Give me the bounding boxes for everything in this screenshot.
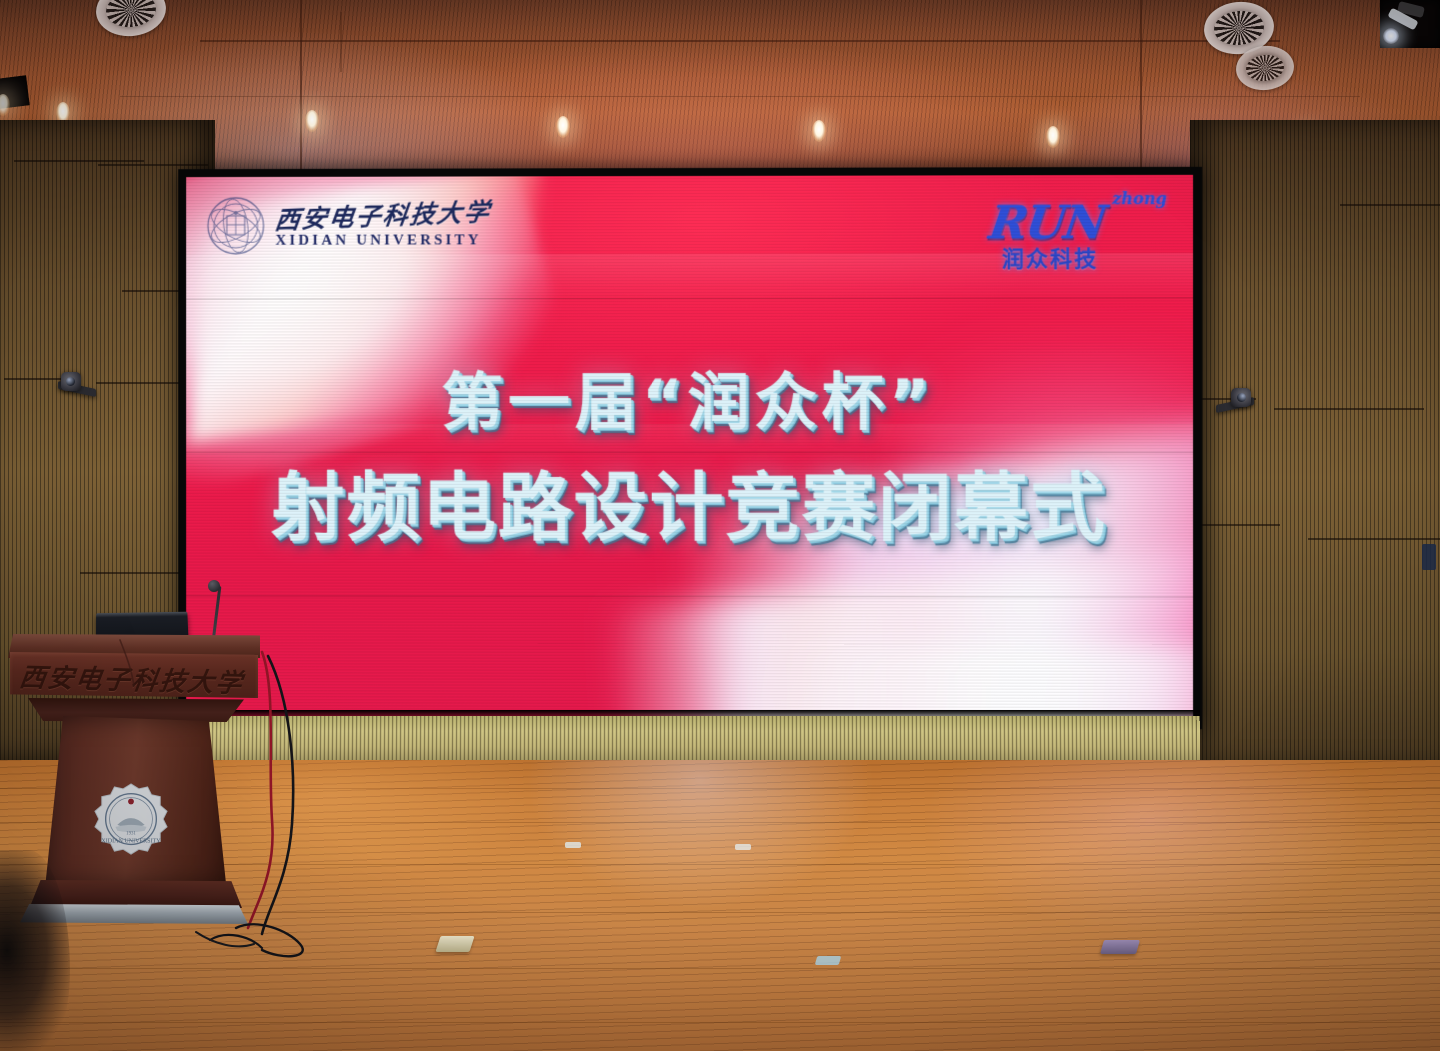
xidian-university-emblem-icon: XIDIAN UNIVERSITY 1931 bbox=[92, 782, 170, 860]
event-title-line1: 第一届“润众杯” bbox=[186, 352, 1193, 442]
ceiling-light-slot bbox=[1380, 0, 1440, 48]
floor-outlet-plate bbox=[1100, 940, 1140, 954]
event-title-line2: 射频电路设计竞赛闭幕式 bbox=[186, 448, 1193, 555]
microphone-capsule bbox=[208, 580, 220, 592]
camera-lens bbox=[1237, 393, 1246, 402]
svg-text:1931: 1931 bbox=[126, 832, 136, 837]
lectern-engraved-text: 西安电子科技大学 bbox=[18, 657, 237, 697]
wall-camera-icon bbox=[1214, 388, 1260, 414]
led-display-frame: 西安电子科技大学 XIDIAN UNIVERSITY zhong RUN 润众科… bbox=[178, 167, 1202, 729]
wall-camera-icon bbox=[52, 372, 98, 398]
floor-marker bbox=[815, 956, 842, 965]
wall-seam bbox=[14, 160, 144, 162]
downlight-icon bbox=[812, 120, 826, 142]
led-display: 西安电子科技大学 XIDIAN UNIVERSITY zhong RUN 润众科… bbox=[186, 175, 1193, 720]
ceiling-seam bbox=[300, 0, 302, 182]
led-panel-seam bbox=[186, 595, 1193, 597]
floor-marker bbox=[565, 842, 581, 848]
wall-fixture bbox=[1422, 544, 1436, 570]
lectern-underside bbox=[28, 698, 244, 722]
wall-seam bbox=[1200, 524, 1280, 526]
floor-outlet-plate bbox=[435, 936, 474, 952]
university-name-cn: 西安电子科技大学 bbox=[273, 199, 492, 233]
event-title: 第一届“润众杯” 射频电路设计竞赛闭幕式 bbox=[186, 352, 1193, 556]
sponsor-logo: zhong RUN 润众科技 bbox=[990, 189, 1171, 276]
xidian-university-seal-icon bbox=[204, 194, 268, 258]
wall-seam bbox=[98, 164, 208, 166]
wall-seam bbox=[1340, 204, 1440, 206]
floor-marker bbox=[735, 844, 751, 850]
wall-seam bbox=[1308, 538, 1440, 540]
university-logo: 西安电子科技大学 XIDIAN UNIVERSITY bbox=[204, 182, 470, 268]
ceiling-seam bbox=[200, 40, 1280, 42]
downlight-icon bbox=[556, 116, 570, 138]
university-name-en: XIDIAN UNIVERSITY bbox=[275, 233, 490, 248]
ceiling-seam bbox=[120, 96, 1360, 97]
downlight-icon bbox=[1046, 126, 1060, 148]
camera-lens bbox=[66, 377, 75, 386]
university-name-block: 西安电子科技大学 XIDIAN UNIVERSITY bbox=[275, 203, 490, 248]
spotlight-beam bbox=[1383, 28, 1399, 44]
sponsor-name-cn: 润众科技 bbox=[1002, 241, 1099, 273]
wall-seam bbox=[1274, 408, 1424, 410]
right-wall bbox=[1190, 120, 1440, 770]
sponsor-superscript: zhong bbox=[1112, 189, 1167, 208]
ceiling-seam bbox=[1140, 0, 1142, 182]
svg-text:XIDIAN UNIVERSITY: XIDIAN UNIVERSITY bbox=[101, 838, 161, 844]
ceiling-seam bbox=[340, 12, 342, 72]
downlight-icon bbox=[305, 110, 319, 132]
stage-skirting-panel bbox=[176, 716, 1201, 766]
auditorium-scene: 西安电子科技大学 XIDIAN UNIVERSITY zhong RUN 润众科… bbox=[0, 0, 1440, 1051]
